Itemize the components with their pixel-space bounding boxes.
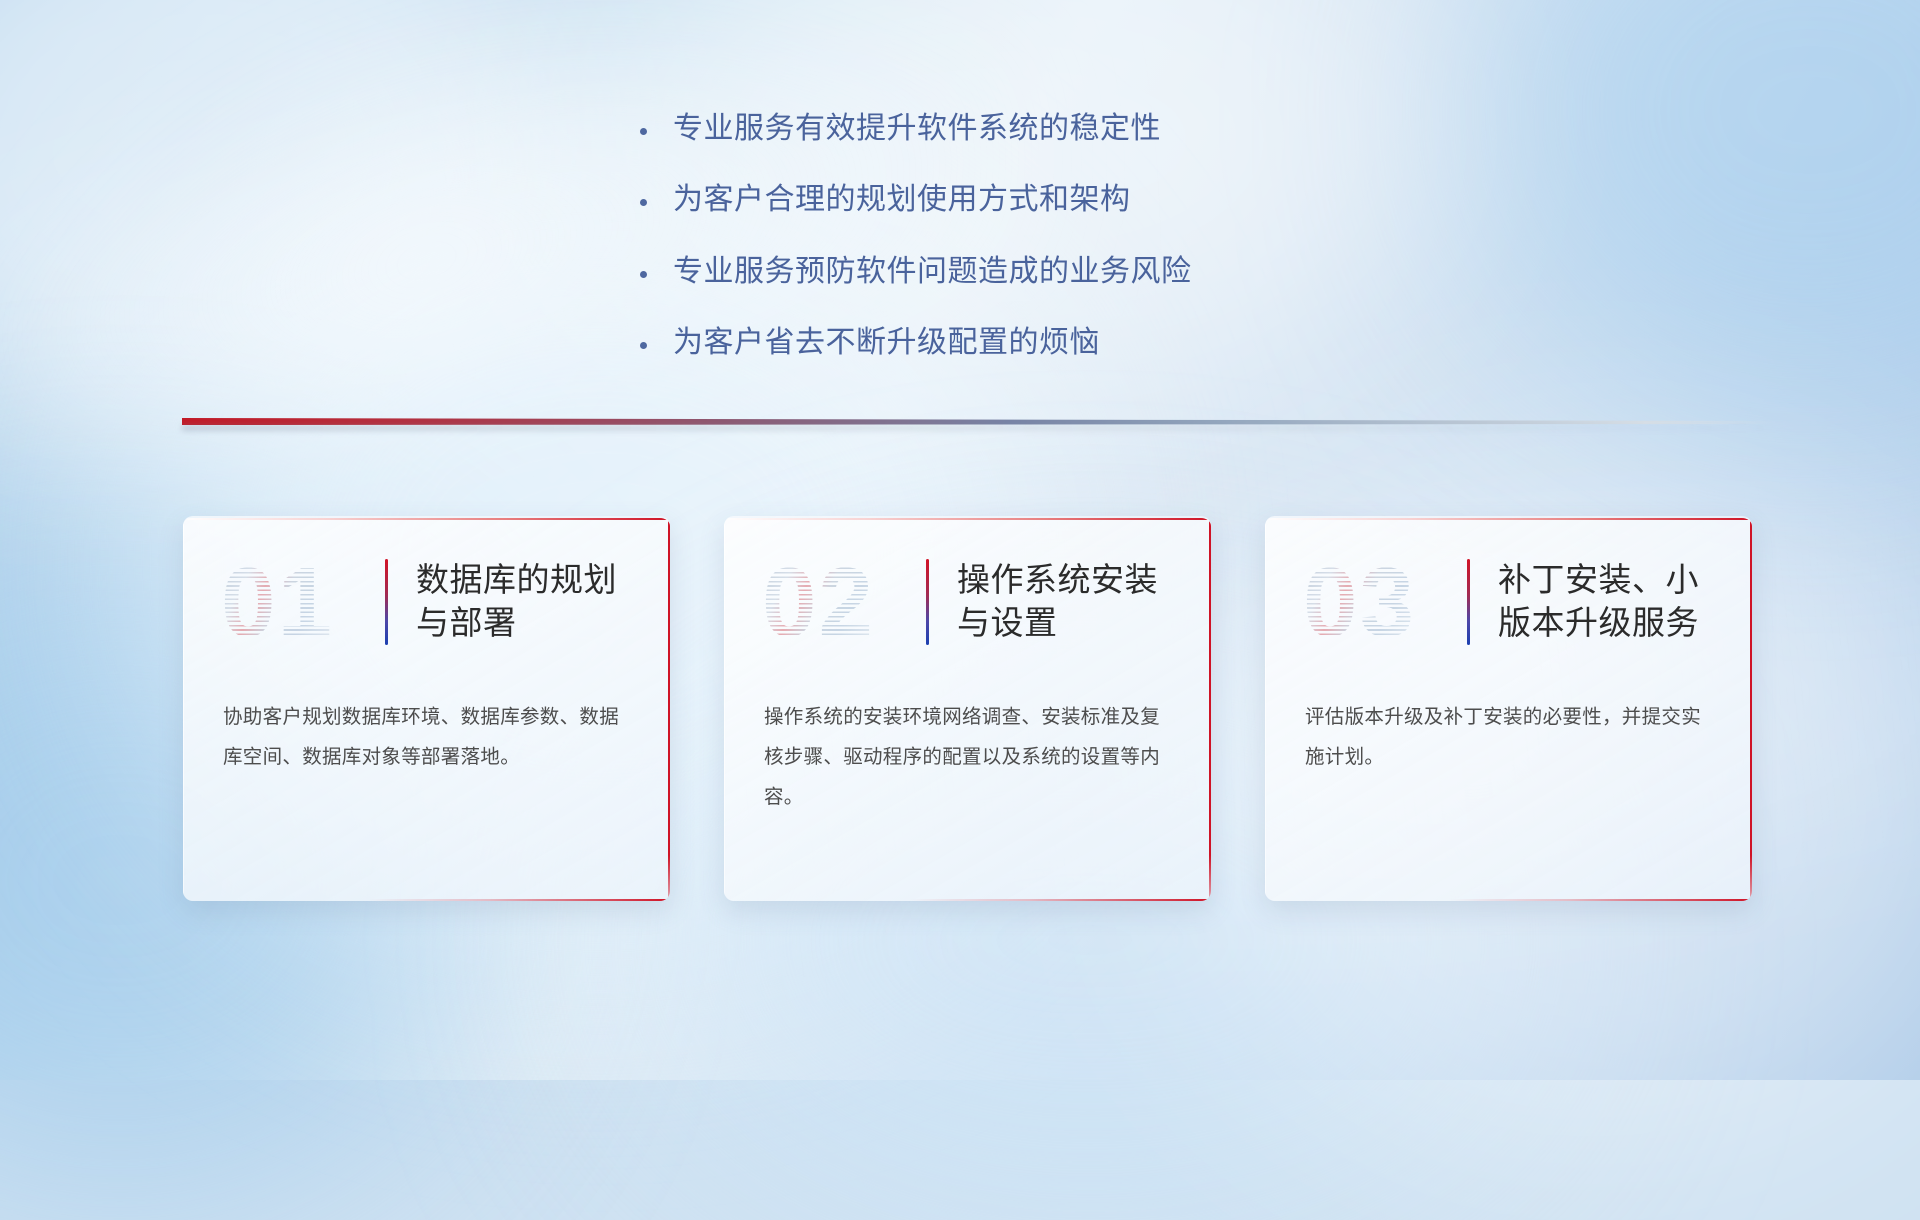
card-description: 协助客户规划数据库环境、数据库参数、数据库空间、数据库对象等部署落地。 bbox=[183, 668, 670, 778]
bullet-dot-icon bbox=[640, 342, 647, 349]
card-bottom-accent bbox=[1450, 899, 1752, 901]
list-item: 为客户合理的规划使用方式和架构 bbox=[640, 181, 1400, 219]
card-header: 01 数据库的规划与部署 bbox=[183, 518, 670, 668]
card-title: 操作系统安装与设置 bbox=[957, 559, 1185, 645]
section-divider bbox=[182, 418, 1772, 434]
card-description: 评估版本升级及补丁安装的必要性，并提交实施计划。 bbox=[1265, 668, 1752, 778]
card-title-separator bbox=[1467, 559, 1470, 645]
bullet-dot-icon bbox=[640, 271, 647, 278]
bullet-item-label: 为客户省去不断升级配置的烦恼 bbox=[673, 324, 1100, 362]
bullet-dot-icon bbox=[640, 199, 647, 206]
card-number-label: 01 bbox=[221, 547, 334, 657]
service-card-03[interactable]: 03 补丁安装、小版本升级服务 评估版本升级及补丁安装的必要性，并提交实施计划。 bbox=[1265, 516, 1752, 901]
service-card-02[interactable]: 02 操作系统安装与设置 操作系统的安装环境网络调查、安装标准及复核步骤、驱动程… bbox=[724, 516, 1211, 901]
card-title: 补丁安装、小版本升级服务 bbox=[1498, 559, 1726, 645]
divider-line bbox=[182, 418, 1772, 425]
card-number-watermark: 03 bbox=[1303, 550, 1451, 654]
list-item: 专业服务有效提升软件系统的稳定性 bbox=[640, 110, 1400, 148]
bullet-item-label: 为客户合理的规划使用方式和架构 bbox=[673, 181, 1131, 219]
card-number-label: 03 bbox=[1303, 547, 1416, 657]
card-number-watermark: 02 bbox=[762, 550, 910, 654]
card-header: 03 补丁安装、小版本升级服务 bbox=[1265, 518, 1752, 668]
service-card-list: 01 数据库的规划与部署 协助客户规划数据库环境、数据库参数、数据库空间、数据库… bbox=[183, 516, 1752, 901]
card-title-separator bbox=[385, 559, 388, 645]
card-header: 02 操作系统安装与设置 bbox=[724, 518, 1211, 668]
card-title-separator bbox=[926, 559, 929, 645]
service-card-01[interactable]: 01 数据库的规划与部署 协助客户规划数据库环境、数据库参数、数据库空间、数据库… bbox=[183, 516, 670, 901]
card-number-watermark: 01 bbox=[221, 550, 369, 654]
list-item: 专业服务预防软件问题造成的业务风险 bbox=[640, 253, 1400, 291]
bullet-dot-icon bbox=[640, 128, 647, 135]
card-number-label: 02 bbox=[762, 547, 875, 657]
bullet-item-label: 专业服务预防软件问题造成的业务风险 bbox=[673, 253, 1192, 291]
bullet-item-label: 专业服务有效提升软件系统的稳定性 bbox=[673, 110, 1161, 148]
divider-shadow bbox=[182, 425, 1772, 431]
card-bottom-accent bbox=[909, 899, 1211, 901]
card-description: 操作系统的安装环境网络调查、安装标准及复核步骤、驱动程序的配置以及系统的设置等内… bbox=[724, 668, 1211, 818]
card-title: 数据库的规划与部署 bbox=[416, 559, 644, 645]
benefits-bullet-list: 专业服务有效提升软件系统的稳定性 为客户合理的规划使用方式和架构 专业服务预防软… bbox=[640, 110, 1400, 396]
card-bottom-accent bbox=[368, 899, 670, 901]
list-item: 为客户省去不断升级配置的烦恼 bbox=[640, 324, 1400, 362]
